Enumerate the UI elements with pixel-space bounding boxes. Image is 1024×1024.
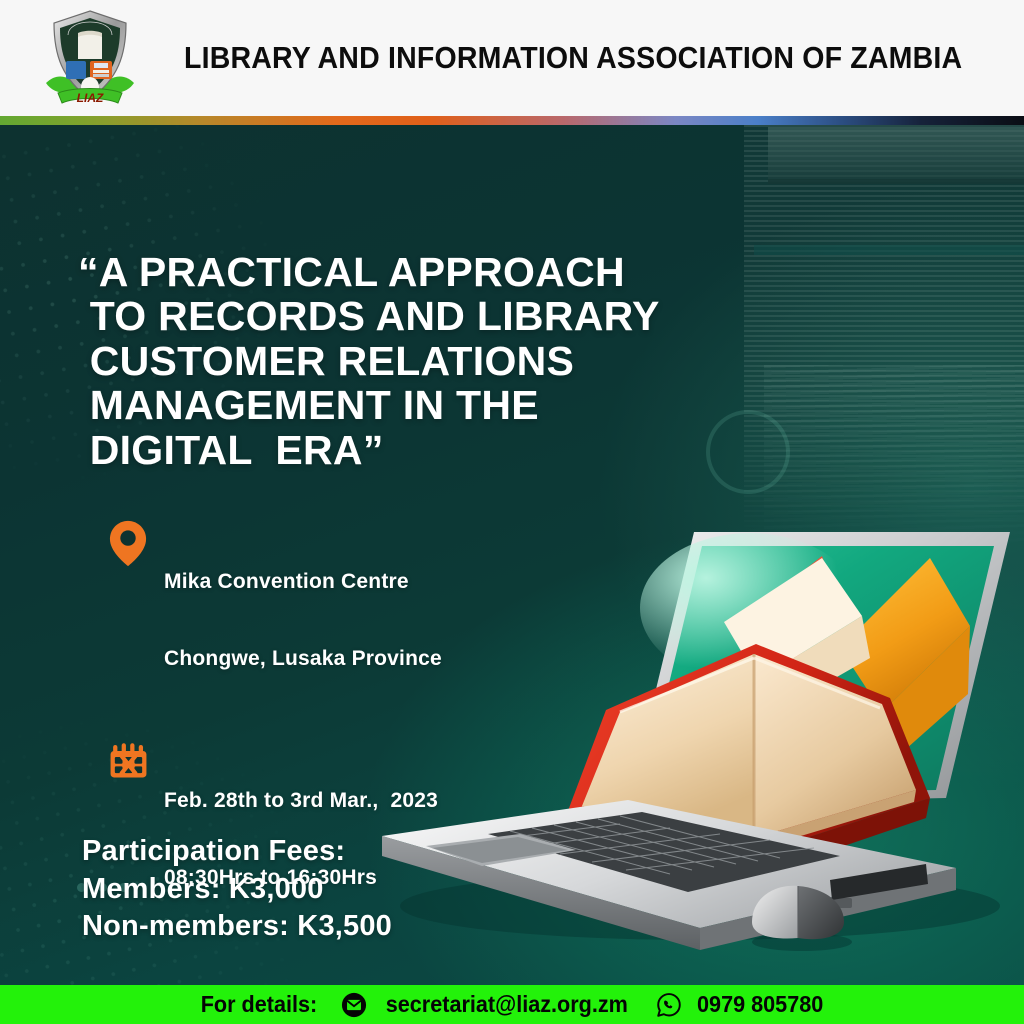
venue-line-2: Chongwe, Lusaka Province	[164, 646, 442, 672]
contact-email[interactable]: secretariat@liaz.org.zm	[386, 991, 628, 1018]
laptop-with-open-books-icon	[370, 498, 1024, 968]
footer-label: For details:	[201, 991, 318, 1018]
organization-name: LIBRARY AND INFORMATION ASSOCIATION OF Z…	[184, 40, 962, 76]
contact-phone[interactable]: 0979 805780	[697, 991, 823, 1018]
venue-row: Mika Convention Centre Chongwe, Lusaka P…	[108, 518, 442, 723]
fees-line-3: Non-members: K3,500	[82, 908, 392, 946]
headline-line-4: MANAGEMENT IN THE	[78, 383, 718, 427]
computer-mouse-icon	[740, 880, 860, 952]
headline-line-5: DIGITAL ERA”	[78, 428, 718, 472]
venue-text: Mika Convention Centre Chongwe, Lusaka P…	[164, 518, 442, 723]
venue-line-1: Mika Convention Centre	[164, 569, 442, 595]
whatsapp-icon	[656, 992, 682, 1018]
gradient-divider	[0, 116, 1024, 125]
poster-header: LIAZ LIBRARY AND INFORMATION ASSOCIATION…	[0, 0, 1024, 116]
decorative-circle-outline	[706, 410, 790, 494]
location-pin-icon	[108, 518, 164, 572]
liaz-logo: LIAZ	[38, 7, 142, 111]
envelope-icon	[341, 992, 367, 1018]
event-headline: “A PRACTICAL APPROACH TO RECORDS AND LIB…	[78, 250, 718, 472]
headline-line-1: “A PRACTICAL APPROACH	[78, 250, 718, 294]
headline-line-3: CUSTOMER RELATIONS	[78, 339, 718, 383]
participation-fees: Participation Fees: Members: K3,000 Non-…	[82, 833, 392, 946]
fees-line-2: Members: K3,000	[82, 871, 392, 909]
event-poster: LIAZ LIBRARY AND INFORMATION ASSOCIATION…	[0, 0, 1024, 1024]
contact-footer: For details: secretariat@liaz.org.zm 097…	[0, 985, 1024, 1024]
fees-line-1: Participation Fees:	[82, 833, 392, 871]
headline-line-2: TO RECORDS AND LIBRARY	[78, 294, 718, 338]
logo-banner-text: LIAZ	[77, 91, 104, 105]
calendar-icon	[108, 737, 164, 785]
date-line-1: Feb. 28th to 3rd Mar., 2023	[164, 788, 438, 814]
